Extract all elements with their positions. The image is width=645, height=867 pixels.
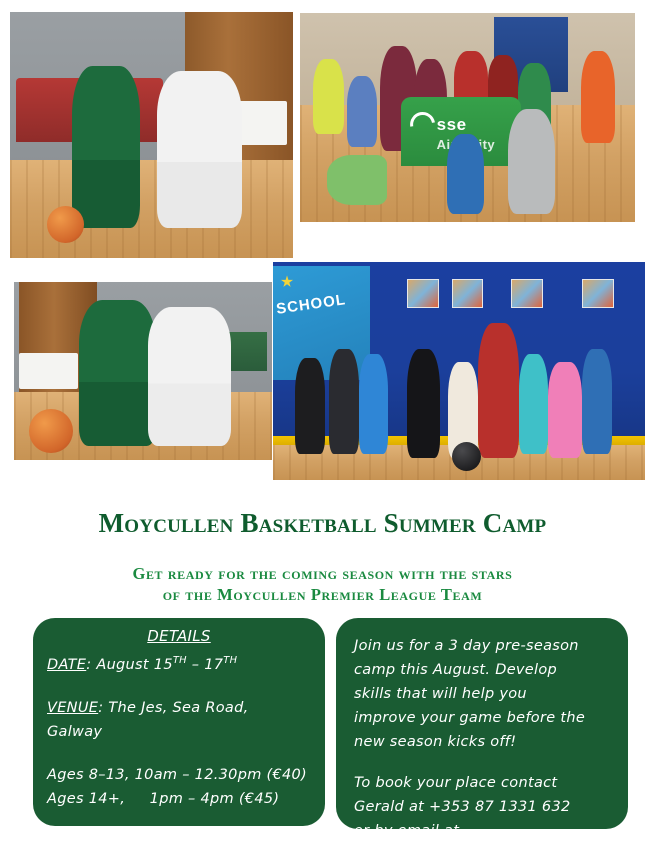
booking-intro-line-1: Join us for a 3 day pre-season xyxy=(354,634,616,658)
advert-board xyxy=(19,353,78,389)
details-venue-line: VENUE: The Jes, Sea Road, xyxy=(47,696,311,720)
date-separator: – 17 xyxy=(187,657,223,673)
player-white-jersey xyxy=(148,307,231,446)
details-spacer-1 xyxy=(47,677,311,696)
child-figure xyxy=(447,134,484,213)
coach-figure xyxy=(478,323,519,458)
booking-spacer xyxy=(354,754,616,771)
venue-label: VENUE xyxy=(47,700,98,716)
booking-contact-email[interactable]: geraldlyons@hotmail.com xyxy=(354,843,616,867)
photo-3-scene xyxy=(14,282,272,460)
gym-floor xyxy=(10,160,293,258)
star-icon xyxy=(281,275,294,288)
photo-game-action-green-vs-white xyxy=(10,12,293,258)
wall-photo xyxy=(511,279,543,307)
player-white-jersey xyxy=(157,71,242,228)
subtitle-line-2: of the Moycullen Premier League Team xyxy=(40,584,605,605)
date-suffix-2: TH xyxy=(223,655,237,666)
details-date-line: DATE: August 15TH – 17TH xyxy=(47,649,311,677)
venue-value: : The Jes, Sea Road, xyxy=(98,700,248,716)
school-banner-text: SCHOOL xyxy=(275,291,347,318)
child-figure xyxy=(347,76,377,147)
camper-figure xyxy=(359,354,389,454)
photo-4-scene: SCHOOL xyxy=(273,262,645,480)
child-figure xyxy=(313,59,343,134)
wall-photo xyxy=(452,279,484,307)
player-green-jersey xyxy=(79,300,156,446)
details-price-line-2: Ages 14+, 1pm – 4pm (€45) xyxy=(47,787,311,811)
booking-panel: Join us for a 3 day pre-season camp this… xyxy=(336,618,628,829)
details-price-line-1: Ages 8–13, 10am – 12.30pm (€40) xyxy=(47,763,311,787)
photo-camp-group-blue-wall: SCHOOL xyxy=(273,262,645,480)
basketball xyxy=(29,409,73,453)
details-panel: DETAILS DATE: August 15TH – 17TH VENUE: … xyxy=(33,618,325,826)
booking-contact-line-1: To book your place contact xyxy=(354,771,616,795)
date-suffix-1: TH xyxy=(173,655,187,666)
date-label: DATE xyxy=(47,657,86,673)
photo-2-scene: sse Airtricity xyxy=(300,13,635,222)
wall-photo xyxy=(582,279,614,307)
camper-figure xyxy=(548,362,581,458)
details-venue-line-2: Galway xyxy=(47,720,311,744)
camper-figure xyxy=(329,349,359,454)
booking-intro-line-3: skills that will help you xyxy=(354,682,616,706)
sse-swoosh-icon xyxy=(405,107,440,142)
photo-kids-cheering-sse-banner: sse Airtricity xyxy=(300,13,635,222)
page-title: Moycullen Basketball Summer Camp xyxy=(0,508,645,539)
player-green-jersey xyxy=(72,66,140,228)
booking-intro-line-2: camp this August. Develop xyxy=(354,658,616,682)
booking-intro-line-5: new season kicks off! xyxy=(354,730,616,754)
camper-figure xyxy=(407,349,440,458)
basketball xyxy=(47,206,84,243)
booking-contact-line-3: or by email at xyxy=(354,819,616,843)
details-spacer-2 xyxy=(47,744,311,763)
date-value: : August 15 xyxy=(86,657,173,673)
child-figure xyxy=(508,109,555,214)
booking-contact-phone: Gerald at +353 87 1331 632 xyxy=(354,795,616,819)
wall-photo xyxy=(407,279,439,307)
subtitle-line-1: Get ready for the coming season with the… xyxy=(40,563,605,584)
photo-game-action-dribble xyxy=(14,282,272,460)
photo-1-scene xyxy=(10,12,293,258)
camper-figure xyxy=(295,358,325,454)
camper-figure xyxy=(519,354,549,454)
booking-intro-line-4: improve your game before the xyxy=(354,706,616,730)
page-subtitle: Get ready for the coming season with the… xyxy=(40,563,605,605)
child-figure xyxy=(327,155,387,205)
camper-figure xyxy=(582,349,612,454)
child-figure xyxy=(581,51,615,143)
banner-logo-line-1: sse xyxy=(437,115,467,135)
details-heading: DETAILS xyxy=(47,624,311,648)
